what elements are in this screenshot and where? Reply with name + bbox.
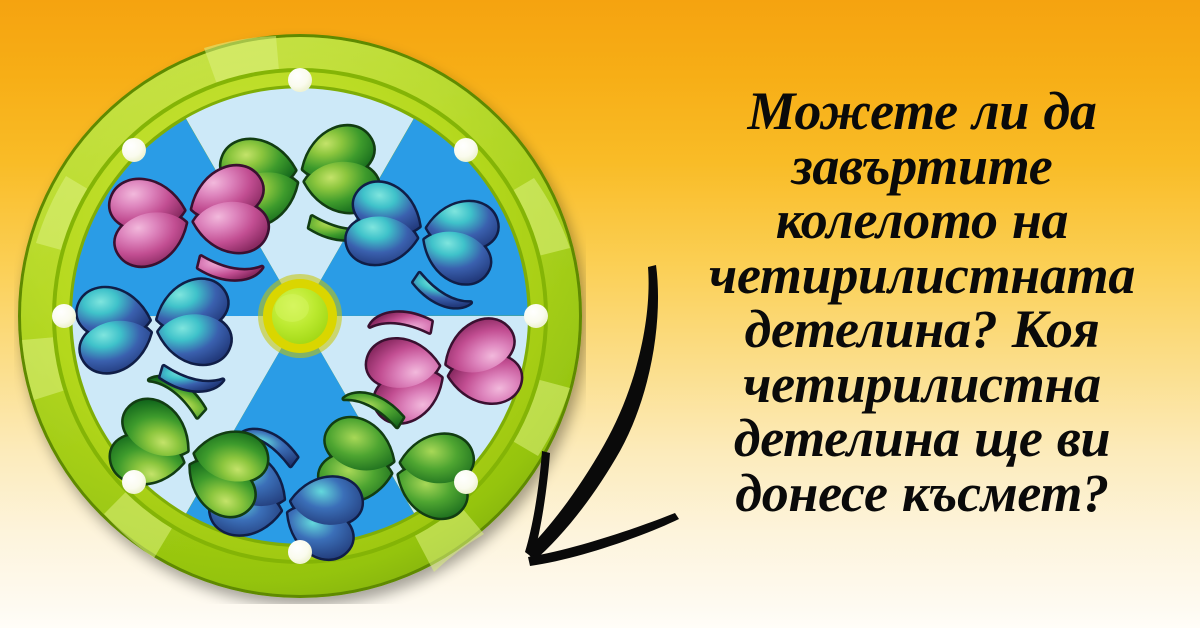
stud-sw [122,470,146,494]
wheel-hub[interactable] [258,274,342,358]
stud-s [288,540,312,564]
caption-line-4: четирилистната [648,248,1196,303]
caption-line-2: завъртите [648,139,1196,194]
spinning-wheel[interactable] [14,28,586,604]
caption-line-1: Можете ли да [648,84,1196,139]
stud-n [288,68,312,92]
stud-w [52,304,76,328]
stud-e [524,304,548,328]
poster-root: Можете ли да завъртите колелото на четир… [0,0,1200,628]
caption-line-3: колелото на [648,193,1196,248]
caption-line-8: донесе късмет? [648,466,1196,521]
stud-nw [122,138,146,162]
stud-se [454,470,478,494]
caption-line-5: детелина? Коя [648,302,1196,357]
caption-line-7: детелина ще ви [648,411,1196,466]
caption-line-6: четирилистна [648,357,1196,412]
caption-text: Можете ли да завъртите колелото на четир… [648,84,1196,520]
stud-ne [454,138,478,162]
